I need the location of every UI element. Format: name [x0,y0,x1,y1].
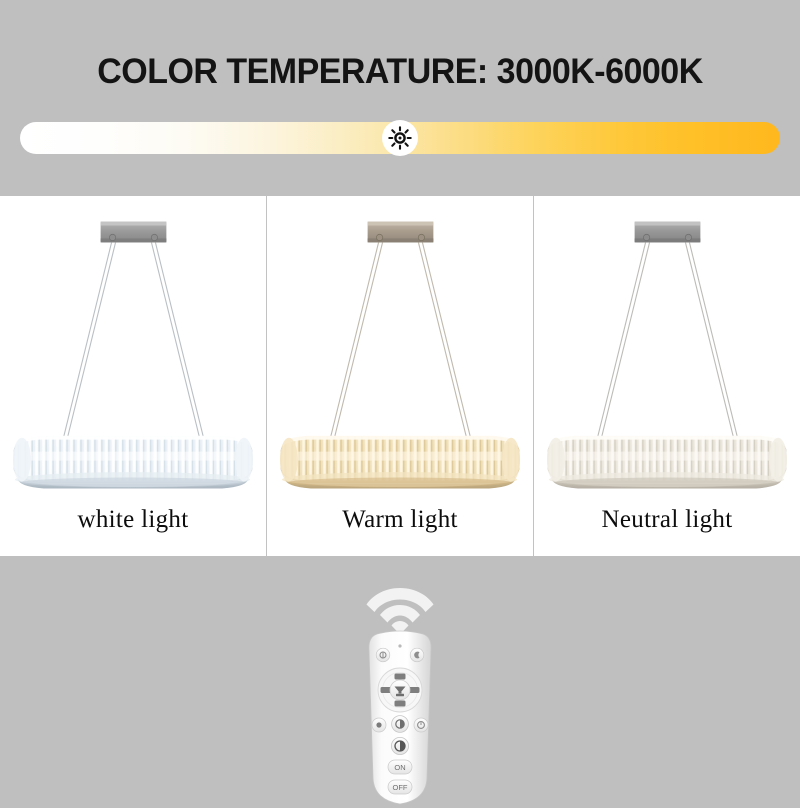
chandelier-image-neutral [534,196,800,516]
off-button-label: OFF [393,783,408,792]
slider-handle[interactable] [382,120,418,156]
up-button [395,674,406,680]
on-button-label: ON [394,763,405,772]
variant-panel-neutral[interactable]: Neutral light [533,196,800,556]
variant-label-white: white light [0,506,266,534]
ir-led [398,644,401,647]
product-infographic: COLOR TEMPERATURE: 3000K-6000K [0,0,800,800]
brightness-sun-icon [388,126,412,150]
chandelier-image-white [0,196,266,516]
variant-panel-white[interactable]: white light [0,196,266,556]
variant-label-warm: Warm light [267,506,533,534]
variant-panel-warm[interactable]: Warm light [266,196,533,556]
down-button [395,701,406,707]
page-title: COLOR TEMPERATURE: 3000K-6000K [12,52,788,92]
product-variants: white light [0,196,800,556]
variant-label-neutral: Neutral light [534,506,800,534]
remote-control-section: ON OFF [0,556,800,800]
chandelier-image-warm [267,196,533,516]
remote-control[interactable]: ON OFF [357,628,443,808]
color-temperature-slider[interactable] [20,122,780,154]
header-section: COLOR TEMPERATURE: 3000K-6000K [0,0,800,196]
